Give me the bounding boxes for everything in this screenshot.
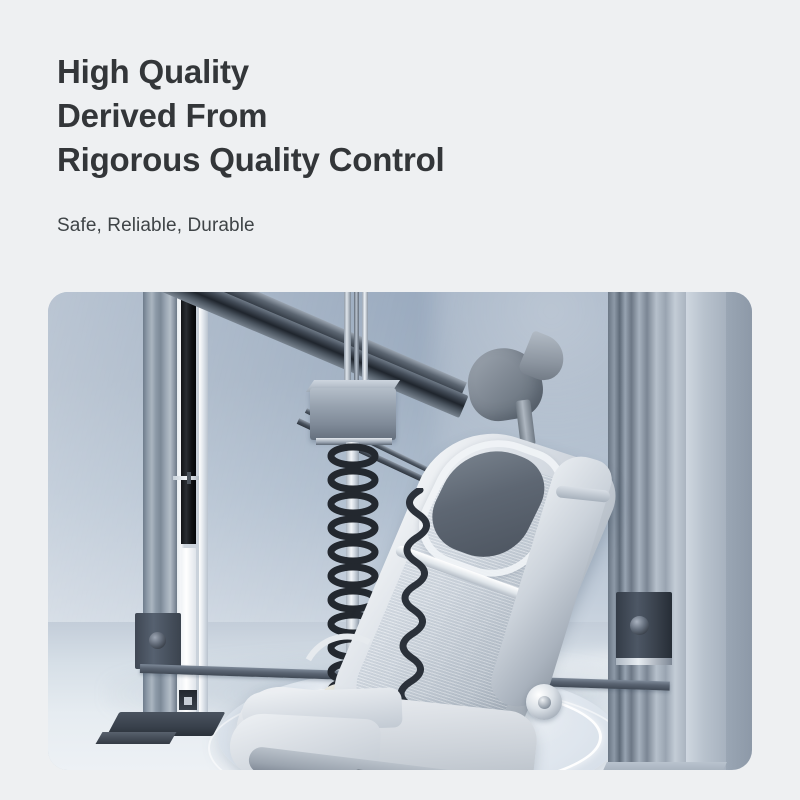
page-subtitle: Safe, Reliable, Durable [57, 213, 757, 239]
headline-line-1: High Quality [57, 50, 757, 94]
text-block: High Quality Derived From Rigorous Quali… [57, 50, 757, 239]
product-image-card [48, 292, 752, 770]
headline-line-2: Derived From [57, 94, 757, 138]
chair-recline-pivot-cap [538, 696, 551, 709]
ergonomic-office-chair [48, 292, 752, 770]
product-feature-page: High Quality Derived From Rigorous Quali… [0, 0, 800, 800]
headline-line-3: Rigorous Quality Control [57, 138, 757, 182]
page-title: High Quality Derived From Rigorous Quali… [57, 50, 757, 182]
